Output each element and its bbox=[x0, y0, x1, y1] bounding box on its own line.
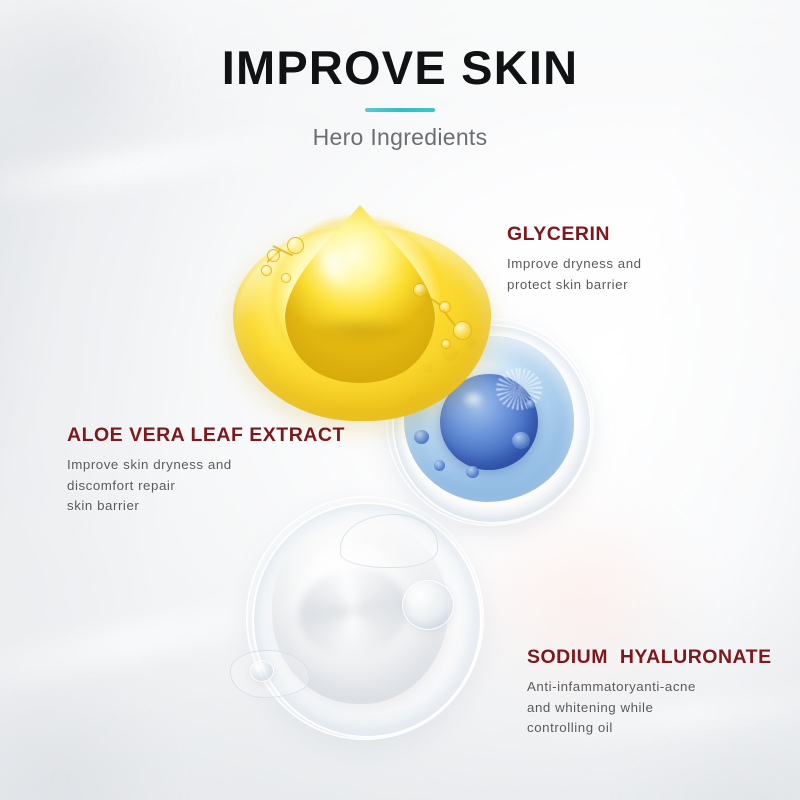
description-line: and whitening while bbox=[527, 698, 772, 719]
ingredient-callout-aloe-vera: ALOE VERA LEAF EXTRACT Improve skin dryn… bbox=[67, 425, 345, 517]
description-line: skin barrier bbox=[67, 496, 345, 517]
molecule-node bbox=[287, 237, 304, 254]
description-line: protect skin barrier bbox=[507, 275, 642, 296]
yellow-gel-teardrop-shadow-band bbox=[293, 313, 427, 347]
ingredient-callout-sodium-hyaluronate: SODIUM HYALURONATE Anti-infammatoryanti-… bbox=[527, 647, 772, 739]
background-soft-shadow-bottom-left bbox=[0, 640, 230, 800]
poster-canvas: IMPROVE SKIN Hero Ingredients bbox=[0, 0, 800, 800]
ingredient-description-glycerin: Improve dryness and protect skin barrier bbox=[507, 254, 642, 295]
blue-gel-speck bbox=[434, 460, 445, 471]
molecule-node bbox=[439, 301, 451, 313]
molecule-cluster-right bbox=[411, 277, 485, 351]
ingredient-description-aloe-vera: Improve skin dryness and discomfort repa… bbox=[67, 455, 345, 517]
title-divider-wrap bbox=[365, 108, 435, 112]
description-line: controlling oil bbox=[527, 718, 772, 739]
description-line: Improve skin dryness and bbox=[67, 455, 345, 476]
molecule-node bbox=[267, 249, 280, 262]
description-line: Improve dryness and bbox=[507, 254, 642, 275]
molecule-node bbox=[281, 273, 291, 283]
molecule-node bbox=[413, 283, 427, 297]
ingredient-callout-glycerin: GLYCERIN Improve dryness and protect ski… bbox=[507, 224, 642, 295]
water-droplet-small bbox=[250, 660, 274, 682]
description-line: discomfort repair bbox=[67, 476, 345, 497]
blue-gel-speck bbox=[466, 466, 479, 478]
page-subtitle: Hero Ingredients bbox=[0, 126, 800, 149]
ingredient-description-sodium-hyaluronate: Anti-infammatoryanti-acne and whitening … bbox=[527, 677, 772, 739]
blue-gel-speck bbox=[526, 400, 535, 409]
ingredient-title-glycerin: GLYCERIN bbox=[507, 224, 642, 245]
ingredient-title-aloe-vera: ALOE VERA LEAF EXTRACT bbox=[67, 425, 345, 446]
molecule-cluster-left bbox=[261, 231, 321, 291]
molecule-node bbox=[261, 265, 272, 276]
title-divider bbox=[365, 108, 435, 112]
molecule-node bbox=[453, 321, 472, 340]
water-droplet-large bbox=[402, 580, 454, 630]
description-line: Anti-infammatoryanti-acne bbox=[527, 677, 772, 698]
blue-gel-speck bbox=[512, 432, 530, 449]
ingredient-title-sodium-hyaluronate: SODIUM HYALURONATE bbox=[527, 647, 772, 668]
molecule-node bbox=[441, 339, 451, 349]
page-title: IMPROVE SKIN bbox=[0, 44, 800, 91]
yellow-gel-dish bbox=[215, 185, 505, 435]
header: IMPROVE SKIN Hero Ingredients bbox=[0, 44, 800, 149]
